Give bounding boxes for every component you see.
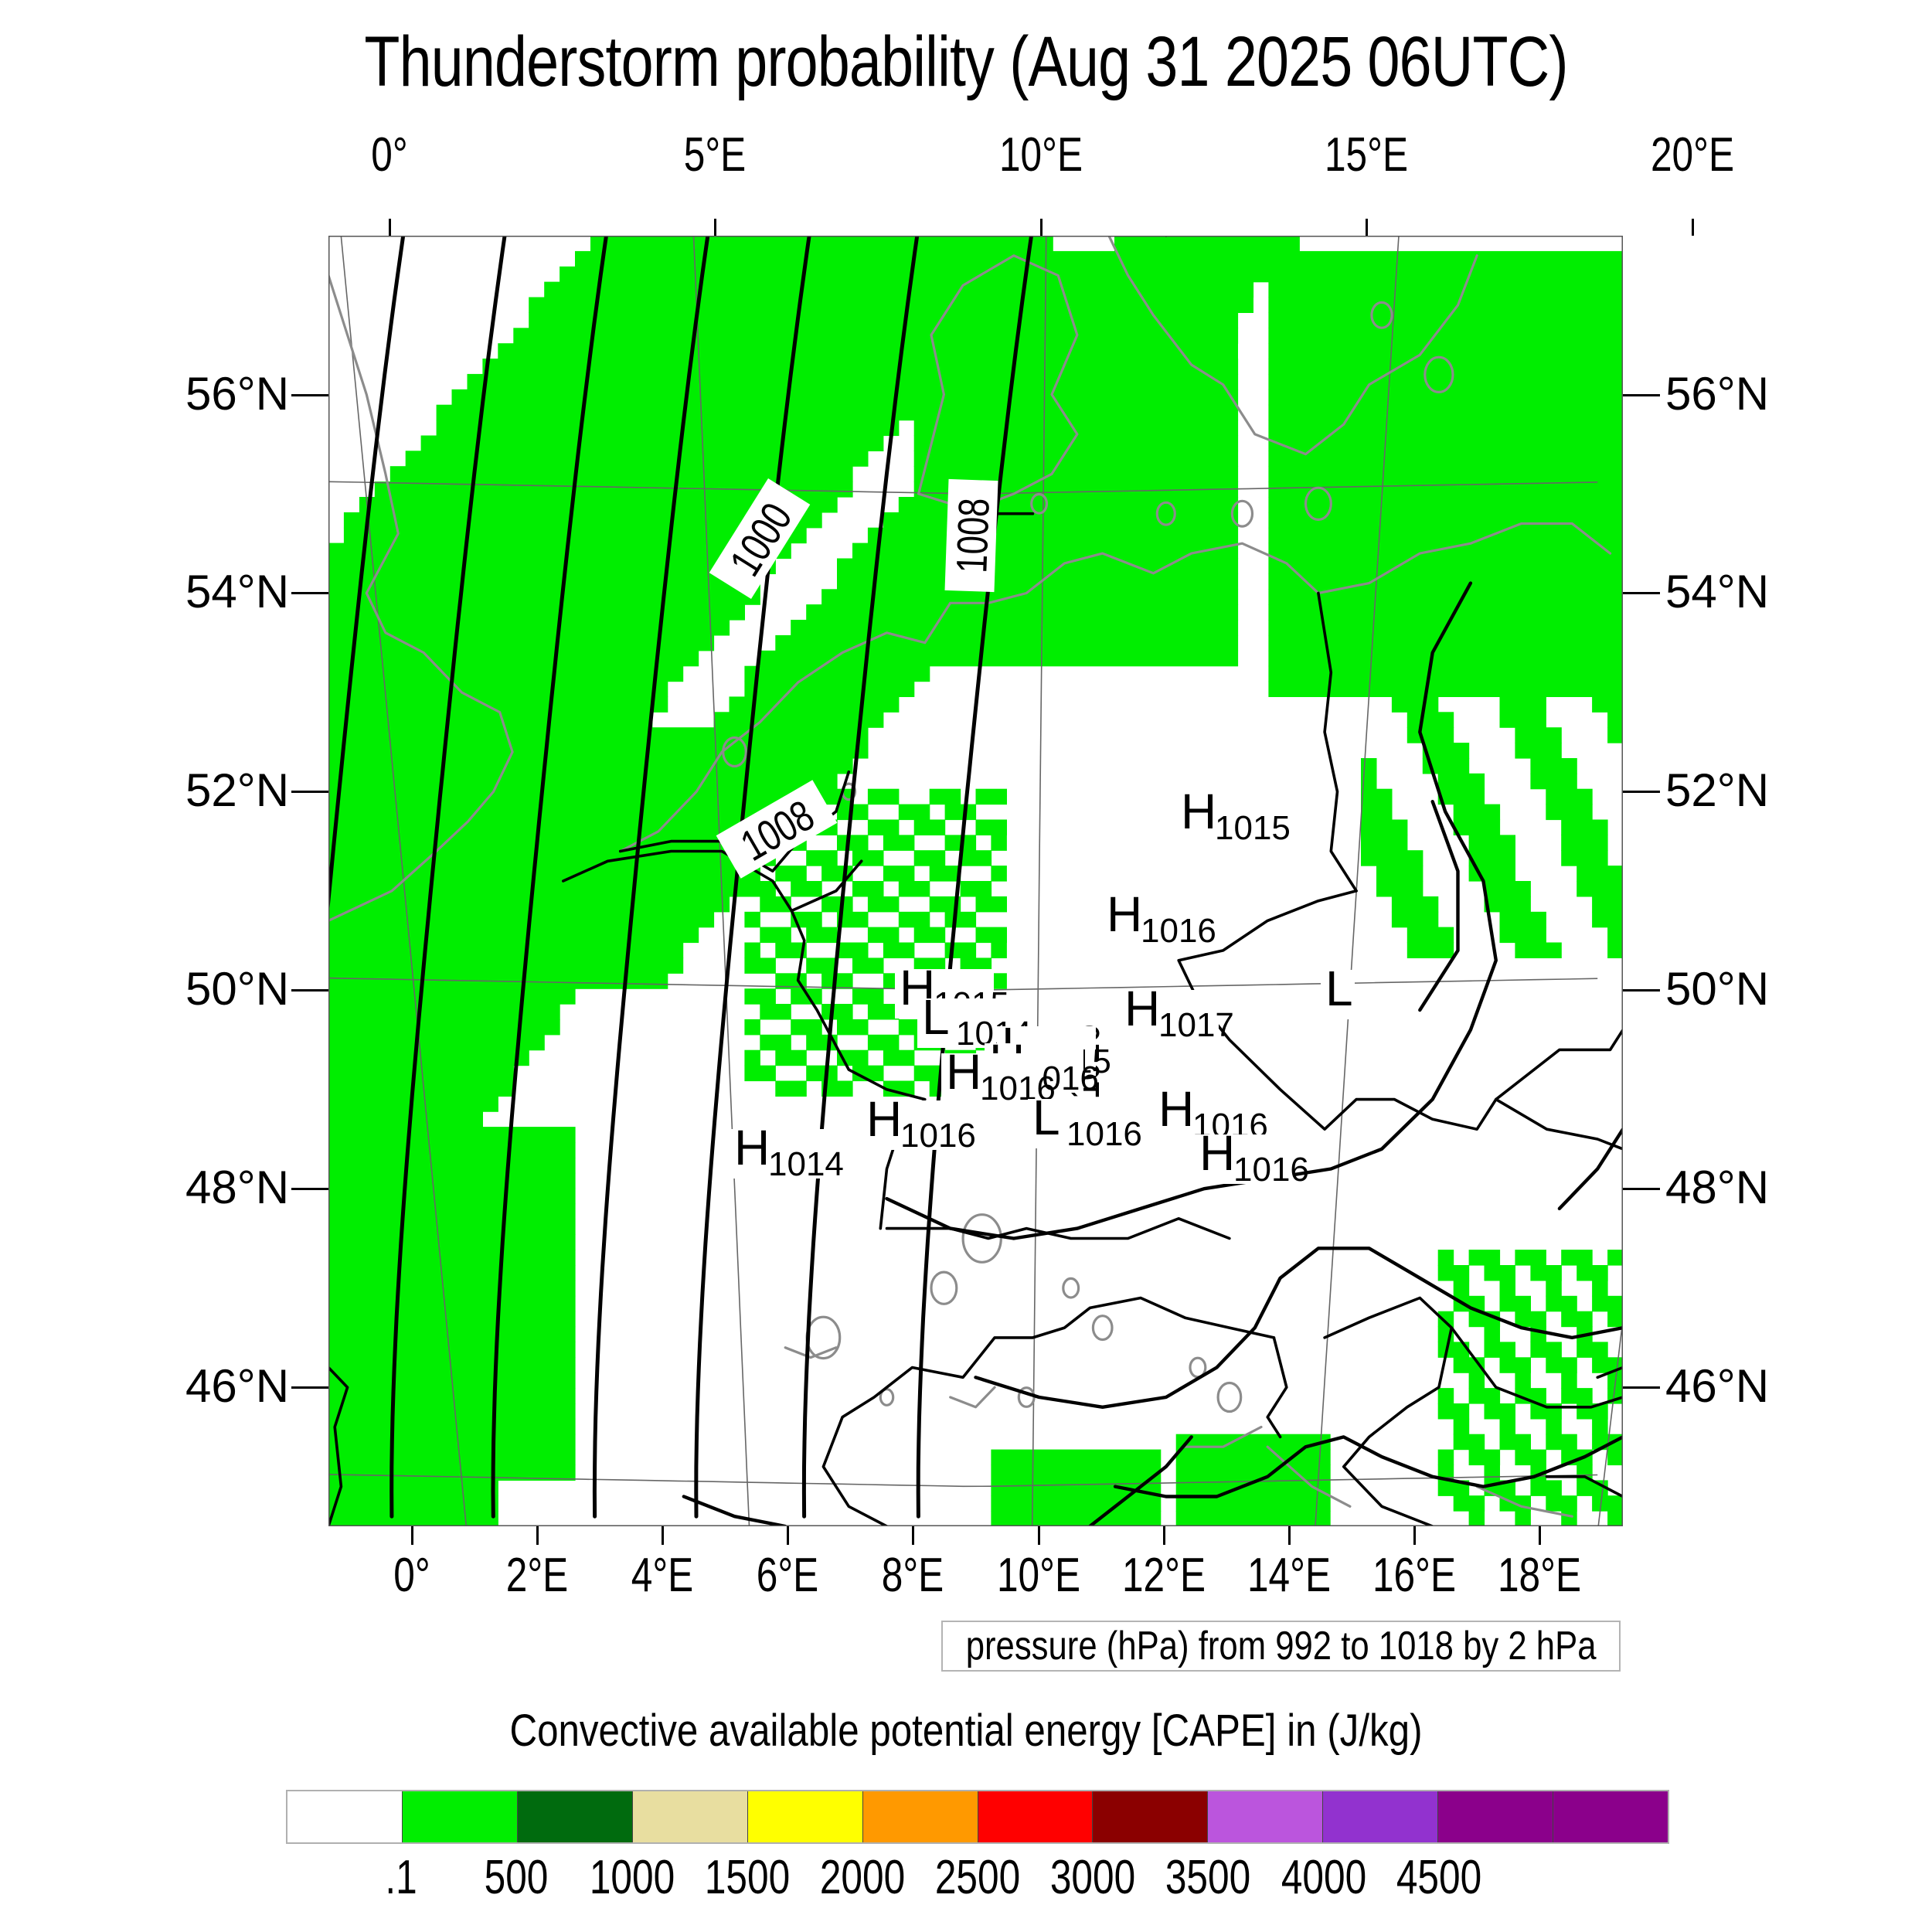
axis-tick xyxy=(714,219,716,236)
colorbar-tick: 2000 xyxy=(820,1850,905,1905)
bottom-axis-label: 8°E xyxy=(882,1548,944,1603)
svg-text:L: L xyxy=(1325,961,1353,1016)
pressure-legend-text: pressure (hPa) from 992 to 1018 by 2 hPa xyxy=(966,1623,1597,1669)
axis-tick xyxy=(291,1386,328,1389)
bottom-axis-label: 4°E xyxy=(631,1548,694,1603)
axis-tick xyxy=(291,394,328,396)
colorbar-tick: 2500 xyxy=(935,1850,1020,1905)
colorbar-tick: 4000 xyxy=(1281,1850,1366,1905)
svg-text:1016: 1016 xyxy=(1233,1151,1309,1189)
svg-text:1014: 1014 xyxy=(768,1145,844,1183)
left-axis-label: 48°N xyxy=(185,1161,289,1214)
bottom-axis-label: 6°E xyxy=(757,1548,819,1603)
axis-tick xyxy=(389,219,391,236)
svg-text:H: H xyxy=(1158,1081,1194,1137)
colorbar[interactable] xyxy=(286,1790,1669,1844)
axis-tick xyxy=(1623,791,1660,793)
axis-tick xyxy=(1623,1386,1660,1389)
axis-tick xyxy=(1623,592,1660,594)
left-axis-label: 46°N xyxy=(185,1359,289,1413)
pressure-center-h: H1017 xyxy=(1120,981,1234,1044)
colorbar-segment[interactable] xyxy=(1437,1791,1553,1842)
pressure-legend-box: pressure (hPa) from 992 to 1018 by 2 hPa xyxy=(941,1621,1621,1672)
svg-text:H: H xyxy=(866,1091,902,1147)
pressure-center-h: H1015 xyxy=(1176,784,1291,847)
axis-tick xyxy=(1623,394,1660,396)
right-axis-label: 54°N xyxy=(1665,565,1769,618)
axis-tick xyxy=(411,1526,413,1545)
colorbar-tick-labels: .150010001500200025003000350040004500 xyxy=(286,1850,1669,1912)
colorbar-segment[interactable] xyxy=(287,1791,402,1842)
axis-tick xyxy=(1413,1526,1416,1545)
axis-tick xyxy=(1539,1526,1541,1545)
axis-tick xyxy=(1692,219,1694,236)
axis-tick xyxy=(291,791,328,793)
axis-tick xyxy=(1623,1188,1660,1190)
colorbar-tick: 1500 xyxy=(704,1850,789,1905)
weather-map-svg[interactable]: 1000100810081016 H1015H1016H1015L1014H10… xyxy=(328,236,1623,1526)
bottom-axis-label: 10°E xyxy=(997,1548,1080,1603)
bottom-axis-label: 14°E xyxy=(1247,1548,1331,1603)
colorbar-segment[interactable] xyxy=(747,1791,862,1842)
svg-text:L: L xyxy=(922,989,950,1045)
colorbar-tick: .1 xyxy=(385,1850,417,1905)
pressure-center-h: H1016 xyxy=(862,1091,976,1155)
top-axis-label: 15°E xyxy=(1325,128,1408,182)
colorbar-tick: 1000 xyxy=(589,1850,674,1905)
colorbar-tick: 500 xyxy=(485,1850,549,1905)
svg-text:H: H xyxy=(734,1120,770,1175)
colorbar-tick: 4500 xyxy=(1396,1850,1481,1905)
axis-tick xyxy=(1038,1526,1040,1545)
colorbar-segment[interactable] xyxy=(1553,1791,1668,1842)
pressure-center-h: H1014 xyxy=(730,1120,844,1183)
bottom-axis-label: 0° xyxy=(393,1548,430,1603)
colorbar-tick: 3000 xyxy=(1050,1850,1135,1905)
svg-text:H: H xyxy=(946,1044,981,1100)
bottom-axis-label: 18°E xyxy=(1498,1548,1581,1603)
colorbar-segment[interactable] xyxy=(517,1791,632,1842)
right-axis-label: 46°N xyxy=(1665,1359,1769,1413)
colorbar-segment[interactable] xyxy=(1207,1791,1322,1842)
svg-text:H: H xyxy=(1124,981,1160,1036)
bottom-axis-label: 12°E xyxy=(1122,1548,1206,1603)
svg-text:1016: 1016 xyxy=(1066,1115,1142,1153)
left-axis-label: 56°N xyxy=(185,367,289,420)
pressure-center-l: L1016 xyxy=(1028,1090,1142,1153)
bottom-axis-label: 16°E xyxy=(1372,1548,1456,1603)
svg-text:H: H xyxy=(1107,886,1142,942)
colorbar-segment[interactable] xyxy=(402,1791,517,1842)
svg-text:H: H xyxy=(1199,1125,1235,1181)
colorbar-segment[interactable] xyxy=(1322,1791,1437,1842)
axis-tick xyxy=(662,1526,664,1545)
pressure-center-h: H1016 xyxy=(1195,1125,1309,1189)
right-axis-label: 50°N xyxy=(1665,962,1769,1015)
colorbar-segment[interactable] xyxy=(978,1791,1093,1842)
svg-text:1015: 1015 xyxy=(1215,809,1291,847)
top-axis-label: 10°E xyxy=(999,128,1083,182)
map-plot-area[interactable]: 1000100810081016 H1015H1016H1015L1014H10… xyxy=(328,236,1623,1526)
axis-tick xyxy=(787,1526,789,1545)
axis-tick xyxy=(912,1526,914,1545)
svg-text:L: L xyxy=(1032,1090,1060,1145)
axis-tick xyxy=(1163,1526,1165,1545)
colorbar-segment[interactable] xyxy=(862,1791,978,1842)
axis-tick xyxy=(536,1526,539,1545)
page-title: Thunderstorm probability (Aug 31 2025 06… xyxy=(174,22,1758,103)
svg-text:1016: 1016 xyxy=(900,1117,976,1155)
svg-text:1016: 1016 xyxy=(1141,912,1216,950)
right-axis-label: 48°N xyxy=(1665,1161,1769,1214)
colorbar-tick: 3500 xyxy=(1165,1850,1250,1905)
svg-text:1017: 1017 xyxy=(1158,1006,1234,1044)
svg-text:1008: 1008 xyxy=(947,497,998,573)
left-axis-label: 52°N xyxy=(185,764,289,817)
axis-tick xyxy=(291,989,328,992)
isobar-label: 1008 xyxy=(945,479,999,592)
top-axis-label: 20°E xyxy=(1651,128,1734,182)
colorbar-segment[interactable] xyxy=(1092,1791,1207,1842)
axis-tick xyxy=(1288,1526,1291,1545)
left-axis-label: 54°N xyxy=(185,565,289,618)
axis-tick xyxy=(291,592,328,594)
axis-tick xyxy=(1366,219,1368,236)
pressure-center-h: H1016 xyxy=(1102,886,1216,950)
colorbar-caption: Convective available potential energy [C… xyxy=(145,1705,1787,1757)
right-axis-label: 52°N xyxy=(1665,764,1769,817)
axis-tick xyxy=(1623,989,1660,992)
axis-tick xyxy=(1040,219,1043,236)
colorbar-segment[interactable] xyxy=(632,1791,747,1842)
top-axis-label: 5°E xyxy=(684,128,747,182)
top-axis-label: 0° xyxy=(371,128,407,182)
right-axis-label: 56°N xyxy=(1665,367,1769,420)
left-axis-label: 50°N xyxy=(185,962,289,1015)
bottom-axis-label: 2°E xyxy=(505,1548,568,1603)
axis-tick xyxy=(291,1188,328,1190)
svg-text:H: H xyxy=(1181,784,1216,839)
pressure-center-l: L xyxy=(1321,961,1355,1019)
